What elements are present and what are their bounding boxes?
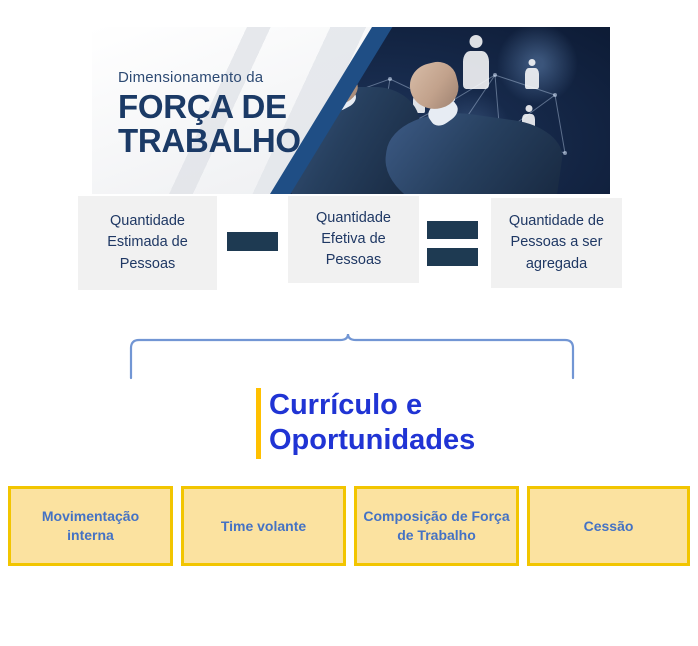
section-title: Currículo e Oportunidades bbox=[269, 388, 475, 459]
banner-text-block: Dimensionamento da FORÇA DE TRABALHO bbox=[118, 69, 301, 158]
workforce-banner: Dimensionamento da FORÇA DE TRABALHO bbox=[92, 27, 610, 194]
upward-curly-brace-icon bbox=[128, 332, 576, 380]
banner-title: FORÇA DE TRABALHO bbox=[118, 90, 301, 158]
card-label: Time volante bbox=[221, 517, 306, 536]
minus-sign-icon bbox=[227, 232, 278, 251]
formula-box-estimated-people: Quantidade Estimada de Pessoas bbox=[78, 196, 217, 290]
section-title-block: Currículo e Oportunidades bbox=[256, 388, 475, 459]
card-label: Movimentação interna bbox=[17, 507, 164, 545]
card-movimentacao-interna[interactable]: Movimentação interna bbox=[8, 486, 173, 566]
card-label: Composição de Força de Trabalho bbox=[363, 507, 510, 545]
formula-box-people-to-add: Quantidade de Pessoas a ser agregada bbox=[491, 198, 622, 288]
equals-sign-icon-bottom bbox=[427, 248, 478, 266]
card-composicao-forca-trabalho[interactable]: Composição de Força de Trabalho bbox=[354, 486, 519, 566]
card-time-volante[interactable]: Time volante bbox=[181, 486, 346, 566]
card-label: Cessão bbox=[584, 517, 634, 536]
formula-box-effective-people: Quantidade Efetiva de Pessoas bbox=[288, 196, 419, 283]
banner-kicker: Dimensionamento da bbox=[118, 69, 301, 86]
person-icon bbox=[525, 59, 539, 89]
equals-sign-icon-top bbox=[427, 221, 478, 239]
person-icon bbox=[463, 35, 489, 89]
card-cessao[interactable]: Cessão bbox=[527, 486, 690, 566]
title-accent-bar bbox=[256, 388, 261, 459]
